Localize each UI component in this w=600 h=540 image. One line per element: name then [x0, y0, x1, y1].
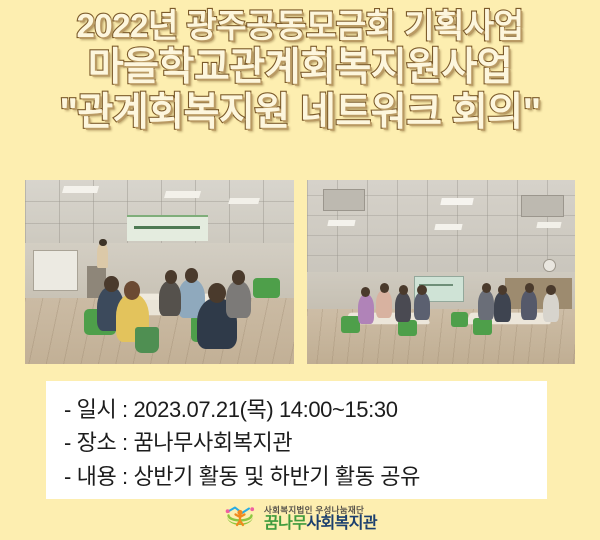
title-line-3: "관계회복지원 네트워크 회의"	[0, 91, 600, 135]
photo-right-ceiling-light	[537, 222, 562, 228]
detail-content: - 내용 : 상반기 활동 및 하반기 활동 공유	[64, 460, 547, 493]
photo-left-participant	[159, 281, 180, 316]
title-line-2: 마을학교관계회복지원사업	[0, 46, 600, 90]
detail-datetime: - 일시 : 2023.07.21(목) 14:00~15:30	[64, 393, 547, 426]
photo-right-ceiling-ac-unit	[323, 189, 365, 211]
photo-left-green-chair	[253, 278, 280, 298]
photo-right-participant	[414, 292, 430, 320]
footer-logo: 사회복지법인 우성나눔재단 꿈나무사회복지관	[0, 504, 600, 532]
photo-left-ceiling-light	[164, 191, 201, 198]
photo-left-participant	[226, 281, 250, 318]
photo-left-event-banner	[127, 215, 208, 241]
detail-location: - 장소 : 꿈나무사회복지관	[64, 426, 547, 459]
photo-right-participant-head	[399, 285, 408, 295]
logo-name-green: 꿈나무	[264, 515, 306, 532]
logo-foundation-name: 사회복지법인 우성나눔재단	[264, 506, 377, 515]
photo-right-ceiling-light	[440, 198, 474, 205]
meeting-photo-left	[25, 180, 294, 364]
photo-right-participant	[521, 290, 537, 319]
photo-left-green-bag	[135, 327, 159, 353]
photo-left-participant-head	[185, 268, 198, 283]
photo-right-participant	[478, 290, 494, 319]
logo-name-navy: 사회복지관	[306, 515, 377, 532]
photo-right-green-chair	[398, 320, 417, 337]
logo-text-group: 사회복지법인 우성나눔재단 꿈나무사회복지관	[264, 506, 377, 533]
photo-right-ceiling-light	[327, 220, 355, 226]
photo-right-participant	[494, 292, 510, 321]
photo-row	[25, 180, 575, 364]
event-details-card: - 일시 : 2023.07.21(목) 14:00~15:30 - 장소 : …	[46, 381, 547, 499]
photo-right-green-chair	[473, 318, 492, 335]
photo-right-participant	[395, 292, 411, 321]
photo-left-participant-head	[104, 276, 119, 293]
photo-left-participant-head	[124, 281, 140, 299]
photo-right-ceiling-light	[435, 224, 463, 230]
photo-right-participant	[376, 290, 392, 318]
meeting-photo-right	[307, 180, 576, 364]
photo-right-ceiling-ac-unit	[521, 195, 563, 217]
photo-right-participant	[543, 292, 559, 321]
photo-right-wall-cabinet	[505, 278, 572, 309]
photo-right-wall-clock	[543, 259, 556, 272]
photo-left-ceiling-light	[228, 198, 259, 204]
photo-right-green-chair	[451, 312, 467, 327]
photo-right-participant	[358, 294, 374, 323]
photo-right-participant-head	[546, 285, 555, 295]
photo-right-participant-head	[417, 285, 426, 295]
photo-left-whiteboard	[33, 250, 78, 291]
photo-left-ceiling-light	[62, 186, 99, 193]
poster-root: 2022년 광주공동모금회 기획사업 마을학교관계회복지원사업 "관계회복지원 …	[0, 0, 600, 540]
photo-left-presenter-head	[99, 239, 107, 246]
photo-left-participant-head	[232, 270, 245, 285]
title-line-1: 2022년 광주공동모금회 기획사업	[0, 8, 600, 45]
kkumnamu-logo-icon	[223, 504, 257, 532]
photo-left-participant-head	[165, 270, 177, 284]
photo-left-presenter-body	[97, 243, 108, 269]
logo-center-name: 꿈나무사회복지관	[264, 516, 377, 532]
poster-title-block: 2022년 광주공동모금회 기획사업 마을학교관계회복지원사업 "관계회복지원 …	[0, 8, 600, 134]
